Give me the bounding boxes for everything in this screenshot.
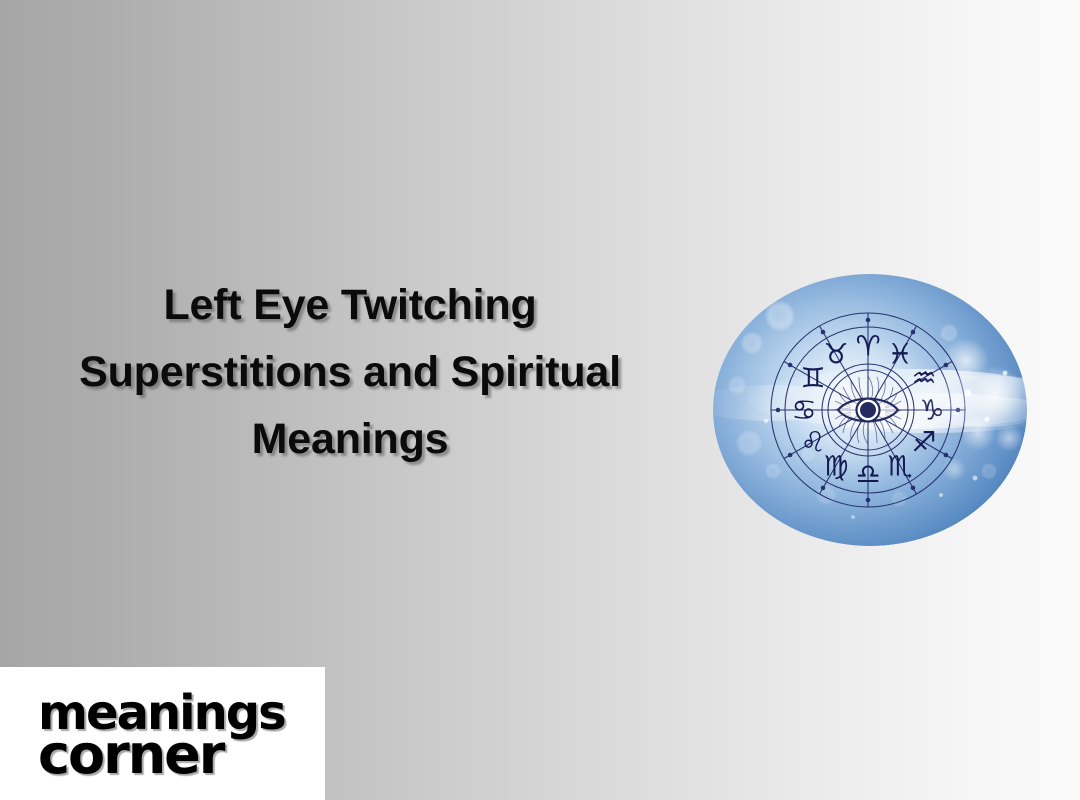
zodiac-glyph-aries: ♈ [855, 330, 880, 363]
zodiac-glyph-pisces: ♓ [887, 338, 912, 371]
artwork-clip-group: ♈ ♉ ♊ ♋ ♌ ♍ ♎ ♏ ♐ ♑ ♒ ♓ [713, 274, 1027, 546]
brand-logo[interactable]: meanings corner [0, 667, 325, 800]
eye-icon [838, 399, 898, 422]
title-line-2: Superstitions and Spiritual [0, 339, 700, 406]
title-line-3: Meanings [0, 406, 700, 473]
zodiac-glyph-libra: ♎ [855, 458, 880, 491]
zodiac-wheel-image: ♈ ♉ ♊ ♋ ♌ ♍ ♎ ♏ ♐ ♑ ♒ ♓ [713, 273, 1027, 547]
zodiac-glyph-sagittarius: ♐ [911, 426, 936, 459]
zodiac-glyph-leo: ♌ [800, 426, 825, 459]
zodiac-glyph-virgo: ♍ [823, 450, 848, 483]
zodiac-glyph-gemini: ♊ [800, 362, 825, 395]
title-line-1: Left Eye Twitching [0, 272, 700, 339]
brand-logo-text: meanings corner [38, 694, 308, 778]
zodiac-glyph-scorpio: ♏ [887, 450, 912, 483]
zodiac-glyph-taurus: ♉ [823, 338, 848, 371]
zodiac-glyph-cancer: ♋ [791, 394, 816, 427]
slide-canvas: Left Eye Twitching Superstitions and Spi… [0, 0, 1080, 800]
page-title: Left Eye Twitching Superstitions and Spi… [0, 272, 700, 473]
